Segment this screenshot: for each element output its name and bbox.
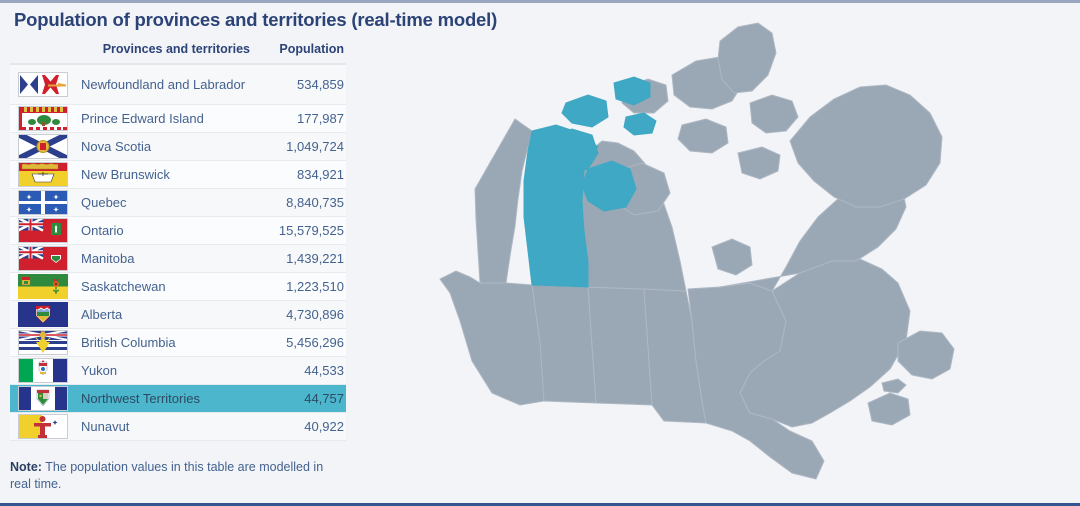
population-table-container: Provinces and territories Population New… [10,42,346,441]
region-name: Ontario [72,216,258,244]
table-header: Provinces and territories Population [10,42,346,64]
table-row[interactable]: Manitoba1,439,221 [10,244,346,272]
column-header-flag [10,42,72,64]
map-region-british-columbia [440,271,544,405]
table-note: Note: The population values in this tabl… [10,459,340,493]
flag-yukon-icon [10,356,72,384]
map-region-saskatchewan [588,287,652,405]
table-body: Newfoundland and Labrador534,859Prince E… [10,64,346,440]
table-row[interactable]: Nova Scotia1,049,724 [10,132,346,160]
table-row[interactable]: Prince Edward Island177,987 [10,104,346,132]
map-region-nova-scotia [868,393,910,425]
table-row[interactable]: Yukon44,533 [10,356,346,384]
table-row[interactable]: Quebec8,840,735 [10,188,346,216]
region-population: 834,921 [258,160,346,188]
map-region-arctic-island-b [750,95,798,133]
region-population: 1,223,510 [258,272,346,300]
region-name: Prince Edward Island [72,104,258,132]
map-region-newfoundland [898,331,954,379]
map-region-southampton-island [712,239,752,275]
canada-map[interactable] [420,21,1070,499]
flag-northwest-territories-icon [10,384,72,412]
region-name: Newfoundland and Labrador [72,64,258,104]
table-header-row: Provinces and territories Population [10,42,346,64]
region-population: 4,730,896 [258,300,346,328]
table-row[interactable]: New Brunswick834,921 [10,160,346,188]
map-region-nwt-island-prince-patrick [562,95,608,127]
region-name: Manitoba [72,244,258,272]
flag-nova-scotia-icon [10,132,72,160]
population-table: Provinces and territories Population New… [10,42,346,441]
table-row[interactable]: Saskatchewan1,223,510 [10,272,346,300]
flag-new-brunswick-icon [10,160,72,188]
flag-ontario-icon [10,216,72,244]
map-region-yukon [475,119,532,283]
flag-newfoundland-and-labrador-icon [10,64,72,104]
map-region-arctic-island-c [678,119,728,153]
region-population: 1,439,221 [258,244,346,272]
map-region-baffin-island [790,85,942,207]
region-population: 8,840,735 [258,188,346,216]
flag-alberta-icon [10,300,72,328]
table-row[interactable]: Ontario15,579,525 [10,216,346,244]
population-widget: Population of provinces and territories … [0,0,1080,506]
note-text: The population values in this table are … [10,460,323,491]
region-population: 15,579,525 [258,216,346,244]
region-name: Nova Scotia [72,132,258,160]
region-name: Nunavut [72,412,258,440]
flag-saskatchewan-icon [10,272,72,300]
map-region-ellesmere [718,23,776,93]
table-row[interactable]: Newfoundland and Labrador534,859 [10,64,346,104]
flag-quebec-icon [10,188,72,216]
region-population: 40,922 [258,412,346,440]
flag-nunavut-icon [10,412,72,440]
region-name: Quebec [72,188,258,216]
flag-manitoba-icon [10,244,72,272]
region-population: 534,859 [258,64,346,104]
note-label: Note: [10,460,42,474]
map-region-arctic-island-d [738,147,780,179]
region-name: Yukon [72,356,258,384]
region-name: British Columbia [72,328,258,356]
column-header-region[interactable]: Provinces and territories [72,42,258,64]
map-region-prince-edward-island [882,379,906,393]
region-name: Saskatchewan [72,272,258,300]
table-row[interactable]: Northwest Territories44,757 [10,384,346,412]
region-population: 1,049,724 [258,132,346,160]
table-row[interactable]: Alberta4,730,896 [10,300,346,328]
table-row[interactable]: British Columbia5,456,296 [10,328,346,356]
map-region-nwt-island-small [624,113,656,135]
region-name: New Brunswick [72,160,258,188]
column-header-population[interactable]: Population [258,42,346,64]
region-population: 5,456,296 [258,328,346,356]
region-population: 177,987 [258,104,346,132]
flag-prince-edward-island-icon [10,104,72,132]
table-row[interactable]: Nunavut40,922 [10,412,346,440]
region-population: 44,533 [258,356,346,384]
region-name: Northwest Territories [72,384,258,412]
flag-british-columbia-icon [10,328,72,356]
map-land-regions [440,23,954,479]
region-name: Alberta [72,300,258,328]
region-population: 44,757 [258,384,346,412]
map-region-nunavut-mainland [582,141,686,291]
